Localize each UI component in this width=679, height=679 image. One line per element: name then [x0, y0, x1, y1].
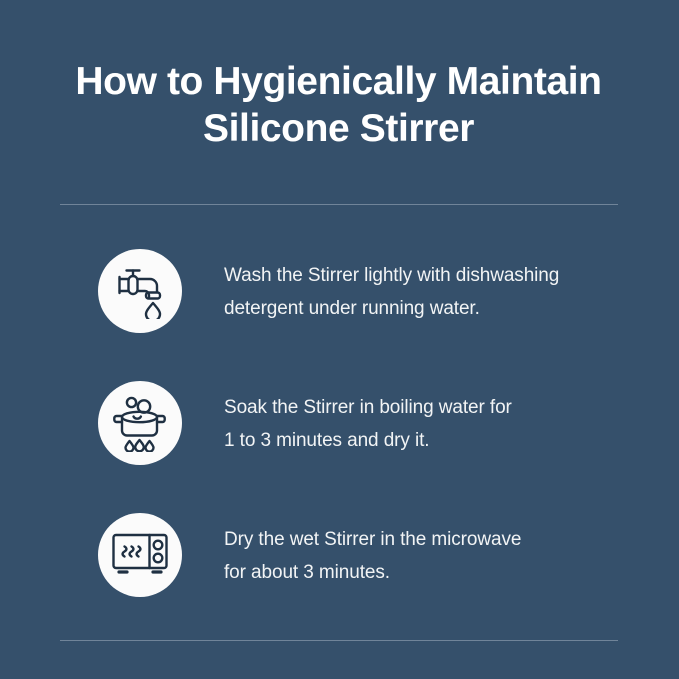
boiling-pot-icon-glyph [111, 394, 169, 452]
list-item-text: Soak the Stirrer in boiling water for 1 … [224, 391, 604, 457]
steps-list: Wash the Stirrer lightly with dishwashin… [0, 249, 679, 645]
faucet-water-drop-icon-glyph [112, 263, 168, 319]
list-item-text: Wash the Stirrer lightly with dishwashin… [224, 259, 604, 325]
list-item-text: Dry the wet Stirrer in the microwave for… [224, 523, 604, 589]
list-item: Wash the Stirrer lightly with dishwashin… [0, 249, 679, 381]
infographic-card: How to Hygienically Maintain Silicone St… [0, 0, 679, 679]
faucet-water-drop-icon [98, 249, 182, 333]
microwave-icon [98, 513, 182, 597]
list-item-text-line-2: for about 3 minutes. [224, 556, 604, 589]
list-item-text-line-1: Dry the wet Stirrer in the microwave [224, 523, 604, 556]
list-item: Dry the wet Stirrer in the microwave for… [0, 513, 679, 645]
list-item-text-line-1: Soak the Stirrer in boiling water for [224, 391, 604, 424]
page-title: How to Hygienically Maintain Silicone St… [0, 58, 679, 152]
page-title-line-1: How to Hygienically Maintain [0, 58, 677, 105]
list-item: Soak the Stirrer in boiling water for 1 … [0, 381, 679, 513]
divider-bottom [60, 640, 618, 641]
microwave-icon-glyph [111, 531, 169, 579]
divider-top [60, 204, 618, 205]
list-item-text-line-1: Wash the Stirrer lightly with dishwashin… [224, 259, 604, 292]
page-title-line-2: Silicone Stirrer [0, 105, 677, 152]
list-item-text-line-2: 1 to 3 minutes and dry it. [224, 424, 604, 457]
boiling-pot-icon [98, 381, 182, 465]
list-item-text-line-2: detergent under running water. [224, 292, 604, 325]
